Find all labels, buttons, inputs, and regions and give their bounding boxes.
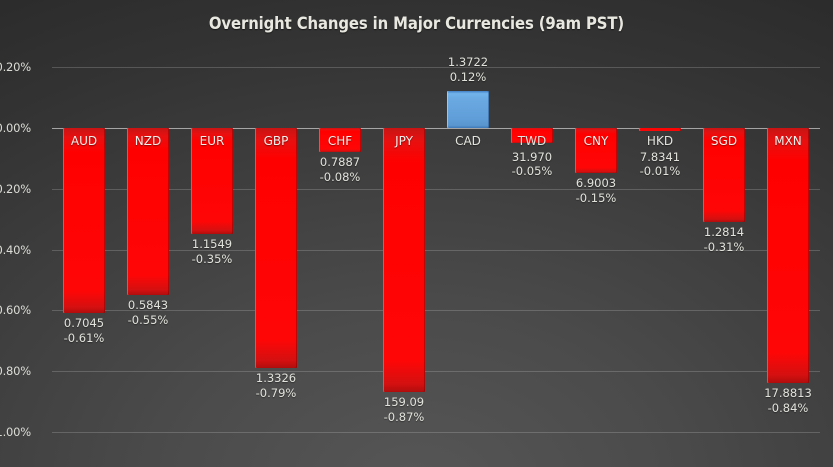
rate-value: 31.970 bbox=[480, 150, 584, 165]
percent-change-value: 0.12% bbox=[416, 70, 520, 85]
percent-change-value: -0.79% bbox=[224, 386, 328, 401]
y-axis-tick-label: -0.80% bbox=[0, 364, 31, 378]
percent-change-value: -0.87% bbox=[352, 410, 456, 425]
y-axis-tick-label: 0.00% bbox=[0, 121, 31, 135]
rate-value: 1.1549 bbox=[160, 237, 264, 252]
rate-value: 17.8813 bbox=[736, 386, 833, 401]
gridline bbox=[52, 371, 820, 372]
percent-change-value: -0.01% bbox=[608, 164, 712, 179]
bar-value-label-gbp: 1.3326-0.79% bbox=[224, 371, 328, 400]
rate-value: 0.7887 bbox=[288, 155, 392, 170]
bar-value-label-jpy: 159.09-0.87% bbox=[352, 395, 456, 424]
rate-value: 0.5843 bbox=[96, 298, 200, 313]
bar-mxn[interactable] bbox=[767, 128, 809, 384]
percent-change-value: -0.35% bbox=[160, 252, 264, 267]
y-axis-tick-label: -0.40% bbox=[0, 243, 31, 257]
bar-value-label-cad: 1.37220.12% bbox=[416, 55, 520, 84]
bar-value-label-eur: 1.1549-0.35% bbox=[160, 237, 264, 266]
bar-cad[interactable] bbox=[447, 91, 489, 128]
bar-nzd[interactable] bbox=[127, 128, 169, 295]
rate-value: 1.3326 bbox=[224, 371, 328, 386]
bar-value-label-hkd: 7.8341-0.01% bbox=[608, 150, 712, 179]
bar-aud[interactable] bbox=[63, 128, 105, 314]
bar-label-mxn: MXN bbox=[742, 134, 833, 148]
rate-value: 1.2814 bbox=[672, 225, 776, 240]
percent-change-value: -0.31% bbox=[672, 240, 776, 255]
y-axis-tick-label: -1.00% bbox=[0, 425, 31, 439]
rate-value: 159.09 bbox=[352, 395, 456, 410]
percent-change-value: -0.15% bbox=[544, 191, 648, 206]
plot-area: 0.20%0.00%-0.20%-0.40%-0.60%-0.80%-1.00%… bbox=[52, 67, 820, 432]
percent-change-value: -0.55% bbox=[96, 313, 200, 328]
rate-value: 1.3722 bbox=[416, 55, 520, 70]
bar-hkd[interactable] bbox=[639, 128, 681, 131]
gridline bbox=[52, 432, 820, 433]
bar-value-label-sgd: 1.2814-0.31% bbox=[672, 225, 776, 254]
bar-value-label-cny: 6.9003-0.15% bbox=[544, 176, 648, 205]
percent-change-value: -0.61% bbox=[32, 331, 136, 346]
y-axis-tick-label: -0.20% bbox=[0, 182, 31, 196]
y-axis-tick-label: -0.60% bbox=[0, 303, 31, 317]
bar-value-label-nzd: 0.5843-0.55% bbox=[96, 298, 200, 327]
bar-jpy[interactable] bbox=[383, 128, 425, 393]
y-axis-tick-label: 0.20% bbox=[0, 60, 31, 74]
bar-value-label-twd: 31.970-0.05% bbox=[480, 150, 584, 179]
bar-value-label-chf: 0.7887-0.08% bbox=[288, 155, 392, 184]
percent-change-value: -0.84% bbox=[736, 401, 833, 416]
rate-value: 7.8341 bbox=[608, 150, 712, 165]
percent-change-value: -0.08% bbox=[288, 170, 392, 185]
chart-title: Overnight Changes in Major Currencies (9… bbox=[0, 14, 833, 33]
bar-value-label-mxn: 17.8813-0.84% bbox=[736, 386, 833, 415]
currency-change-bar-chart: Overnight Changes in Major Currencies (9… bbox=[0, 0, 833, 467]
